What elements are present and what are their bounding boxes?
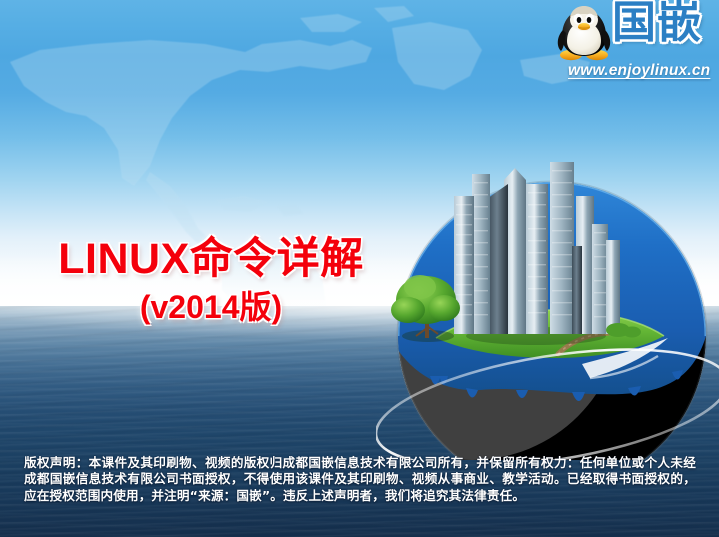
slide-title-block: LINUX命令详解 (v2014版) — [46, 238, 376, 323]
tux-penguin-icon — [554, 4, 614, 62]
page-subtitle: (v2014版) — [46, 291, 376, 323]
brand-website-link[interactable]: www.enjoylinux.cn — [568, 62, 710, 80]
brand-name-cn: 国嵌 — [612, 1, 702, 45]
brand-logo[interactable]: 国嵌 www.enjoylinux.cn — [534, 2, 719, 88]
copyright-notice: 版权声明：本课件及其印刷物、视频的版权归成都国嵌信息技术有限公司所有，并保留所有… — [24, 455, 696, 504]
page-title: LINUX命令详解 — [46, 238, 376, 281]
presentation-slide: AUSTRALIA NEW ZEALAND OCEANIA — [0, 0, 719, 537]
